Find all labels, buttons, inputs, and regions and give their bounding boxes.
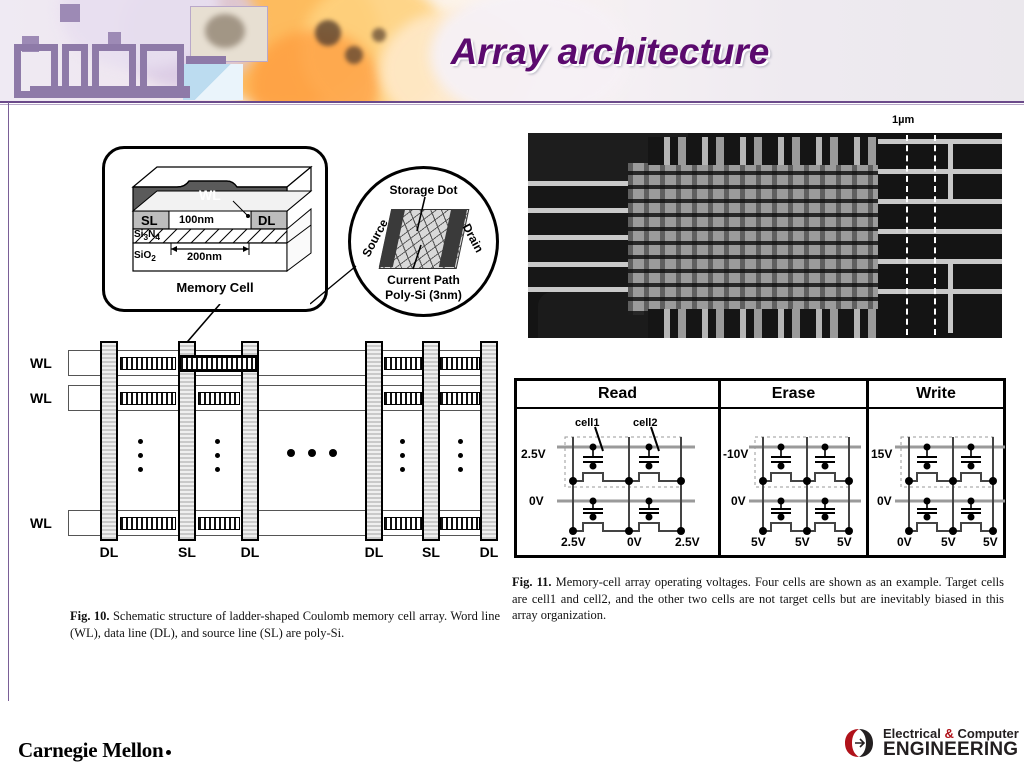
array-cell xyxy=(384,357,422,370)
ece-logo-mark xyxy=(843,728,875,758)
header-divider xyxy=(0,101,1024,103)
cell-label-wl: WL xyxy=(199,187,221,203)
figure-11-caption-label: Fig. 11. xyxy=(512,575,552,589)
array-cell xyxy=(120,517,176,530)
sem-scale-label: 1µm xyxy=(892,114,914,126)
slide-header: Array architecture xyxy=(0,0,1024,102)
cell-label-sl: SL xyxy=(141,213,158,228)
vertical-ellipsis xyxy=(138,439,143,481)
column-line-dl-3 xyxy=(480,341,498,541)
memory-array-schematic: WL WL WL xyxy=(30,341,500,581)
current-path-label: Current Path xyxy=(351,273,496,287)
ece-line-2: ENGINEERING xyxy=(883,739,1018,761)
figure-10-caption-text: Schematic structure of ladder-shaped Cou… xyxy=(70,609,500,640)
memory-cell-caption: Memory Cell xyxy=(105,280,325,295)
column-header-erase: Erase xyxy=(721,381,866,409)
column-label-5: DL xyxy=(474,544,504,560)
cell-label-oxide: SiO2 xyxy=(134,250,156,263)
cell-label-thickness: 100nm xyxy=(179,214,214,226)
storage-dot-label: Storage Dot xyxy=(351,183,496,197)
write-schematic: 15V 0V 0V 5V 5V xyxy=(869,409,1003,554)
cell-label-nitride: Si3N4 xyxy=(134,229,160,242)
vertical-ellipsis xyxy=(458,439,463,481)
wl-label-0: WL xyxy=(30,355,64,371)
cell-label-width: 200nm xyxy=(187,251,222,263)
voltage-column-erase: Erase -10V 0V 5V 5V 5V xyxy=(721,381,869,555)
column-line-dl-0 xyxy=(100,341,118,541)
vertical-ellipsis xyxy=(400,439,405,481)
horizontal-ellipsis xyxy=(287,449,337,457)
array-cell xyxy=(198,517,240,530)
read-circuit-svg xyxy=(517,409,721,554)
vertical-ellipsis xyxy=(215,439,220,481)
column-line-dl-2 xyxy=(365,341,383,541)
wl-label-1: WL xyxy=(30,390,64,406)
memory-cell-cross-section: WL SL DL 100nm Si3N4 SiO2 200nm xyxy=(115,157,315,275)
figure-10: WL SL DL 100nm Si3N4 SiO2 200nm Memory C… xyxy=(30,136,500,656)
column-header-write: Write xyxy=(869,381,1003,409)
memory-cell-inset: WL SL DL 100nm Si3N4 SiO2 200nm Memory C… xyxy=(102,146,328,312)
figure-11-caption: Fig. 11. Memory-cell array operating vol… xyxy=(512,574,1004,624)
erase-circuit-svg xyxy=(721,409,869,554)
column-label-3: DL xyxy=(359,544,389,560)
figure-10-caption-label: Fig. 10. xyxy=(70,609,110,623)
ece-logo: Electrical & Computer ENGINEERING xyxy=(843,726,1018,762)
array-cell xyxy=(198,392,240,405)
header-divider-secondary xyxy=(0,104,1024,105)
inset-leader-line xyxy=(310,256,370,306)
wordmark-dot xyxy=(166,750,171,755)
slide-content: WL SL DL 100nm Si3N4 SiO2 200nm Memory C… xyxy=(0,106,1024,701)
array-cell xyxy=(120,357,176,370)
voltage-column-read: Read 2.5V 0V 2.5V 0V 2.5V cell1 cell2 xyxy=(517,381,721,555)
array-cell xyxy=(440,517,480,530)
cell-label-dl: DL xyxy=(258,213,275,228)
column-label-4: SL xyxy=(416,544,446,560)
operating-voltage-table: Read 2.5V 0V 2.5V 0V 2.5V cell1 cell2 xyxy=(514,378,1006,558)
array-cell xyxy=(120,392,176,405)
figure-11-caption-text: Memory-cell array operating voltages. Fo… xyxy=(512,575,1004,622)
array-cell xyxy=(440,357,480,370)
array-cell xyxy=(384,517,422,530)
carnegie-mellon-text: Carnegie Mellon xyxy=(18,738,163,762)
column-label-2: DL xyxy=(235,544,265,560)
figure-10-caption: Fig. 10. Schematic structure of ladder-s… xyxy=(70,608,500,641)
column-line-sl-1 xyxy=(422,341,440,541)
page-title: Array architecture xyxy=(330,22,890,82)
array-cell xyxy=(384,392,422,405)
dssc-logo xyxy=(14,44,194,100)
column-header-read: Read xyxy=(517,381,718,409)
erase-schematic: -10V 0V 5V 5V 5V xyxy=(721,409,866,554)
voltage-column-write: Write 15V 0V 0V 5V 5V xyxy=(869,381,1003,555)
carnegie-mellon-wordmark: Carnegie Mellon xyxy=(18,738,171,763)
column-label-0: DL xyxy=(94,544,124,560)
sem-micrograph xyxy=(528,133,1002,338)
poly-si-label: Poly-Si (3nm) xyxy=(351,288,496,302)
write-circuit-svg xyxy=(869,409,1009,554)
column-label-1: SL xyxy=(172,544,202,560)
array-cell-highlighted xyxy=(178,355,258,372)
array-cell xyxy=(440,392,480,405)
read-schematic: 2.5V 0V 2.5V 0V 2.5V cell1 cell2 xyxy=(517,409,718,554)
storage-dot-inset: Storage Dot Source Drain Current Path Po… xyxy=(348,166,499,317)
wl-label-2: WL xyxy=(30,515,64,531)
